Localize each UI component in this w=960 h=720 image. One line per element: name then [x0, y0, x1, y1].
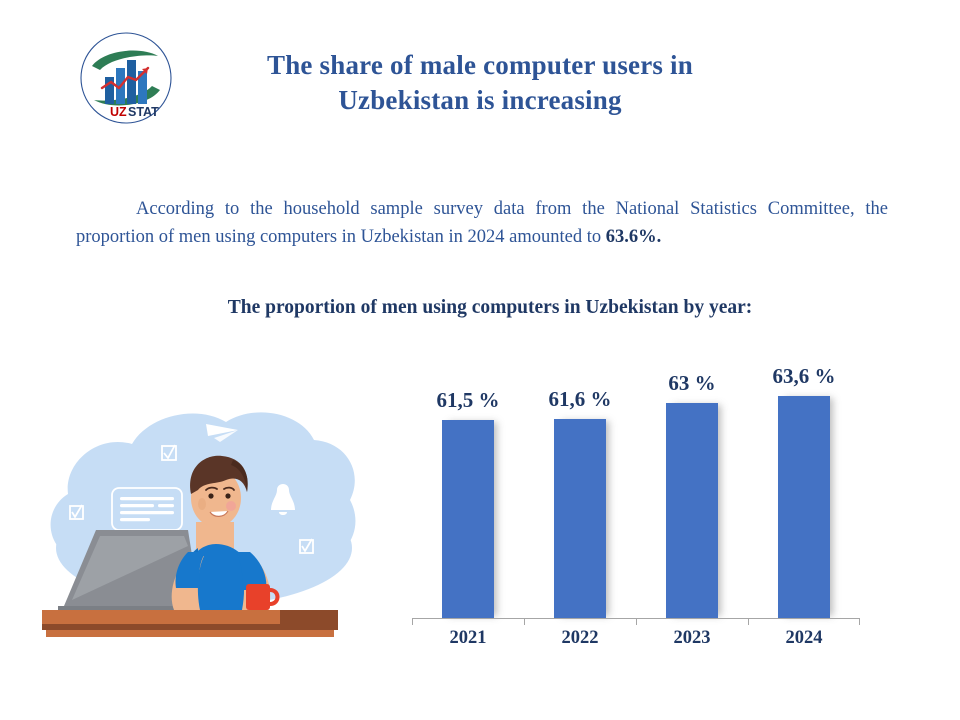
chart-plot-area: 61,5 % 61,6 % 63 % 63,6 % 2021 2022 2023… — [412, 366, 860, 618]
category-label-2021: 2021 — [412, 628, 524, 649]
page-title-line-2: Uzbekistan is increasing — [200, 83, 760, 118]
axis-tick — [524, 618, 525, 625]
page-title: The share of male computer users in Uzbe… — [200, 48, 760, 117]
bar-2021 — [442, 420, 494, 618]
bar-value-2021: 61,5 % — [437, 388, 500, 413]
svg-text:UZ: UZ — [110, 105, 127, 119]
chart-category-labels: 2021 2022 2023 2024 — [412, 628, 860, 658]
intro-paragraph-text: According to the household sample survey… — [76, 199, 888, 247]
bar-value-2022: 61,6 % — [549, 387, 612, 412]
bar-2023 — [666, 403, 718, 618]
bar-chart: 61,5 % 61,6 % 63 % 63,6 % 2021 2022 2023… — [412, 366, 860, 658]
axis-tick — [636, 618, 637, 625]
bar-group-2023: 63 % — [636, 366, 748, 618]
uzstat-logo: UZ STAT — [78, 30, 174, 126]
chart-heading: The proportion of men using computers in… — [120, 297, 860, 319]
bar-group-2024: 63,6 % — [748, 366, 860, 618]
intro-paragraph-highlight: 63.6%. — [606, 227, 662, 247]
bar-group-2021: 61,5 % — [412, 366, 524, 618]
intro-paragraph: According to the household sample survey… — [76, 195, 888, 251]
svg-text:STAT: STAT — [128, 105, 159, 119]
category-label-2022: 2022 — [524, 628, 636, 649]
bar-value-2024: 63,6 % — [773, 364, 836, 389]
bar-value-2023: 63 % — [668, 371, 715, 396]
bar-group-2022: 61,6 % — [524, 366, 636, 618]
man-using-laptop-illustration — [28, 398, 380, 650]
bar-2024 — [778, 396, 830, 618]
category-label-2024: 2024 — [748, 628, 860, 649]
axis-tick — [412, 618, 413, 625]
page-title-line-1: The share of male computer users in — [200, 48, 760, 83]
axis-tick — [748, 618, 749, 625]
bar-2022 — [554, 419, 606, 618]
category-label-2023: 2023 — [636, 628, 748, 649]
axis-tick — [859, 618, 860, 625]
